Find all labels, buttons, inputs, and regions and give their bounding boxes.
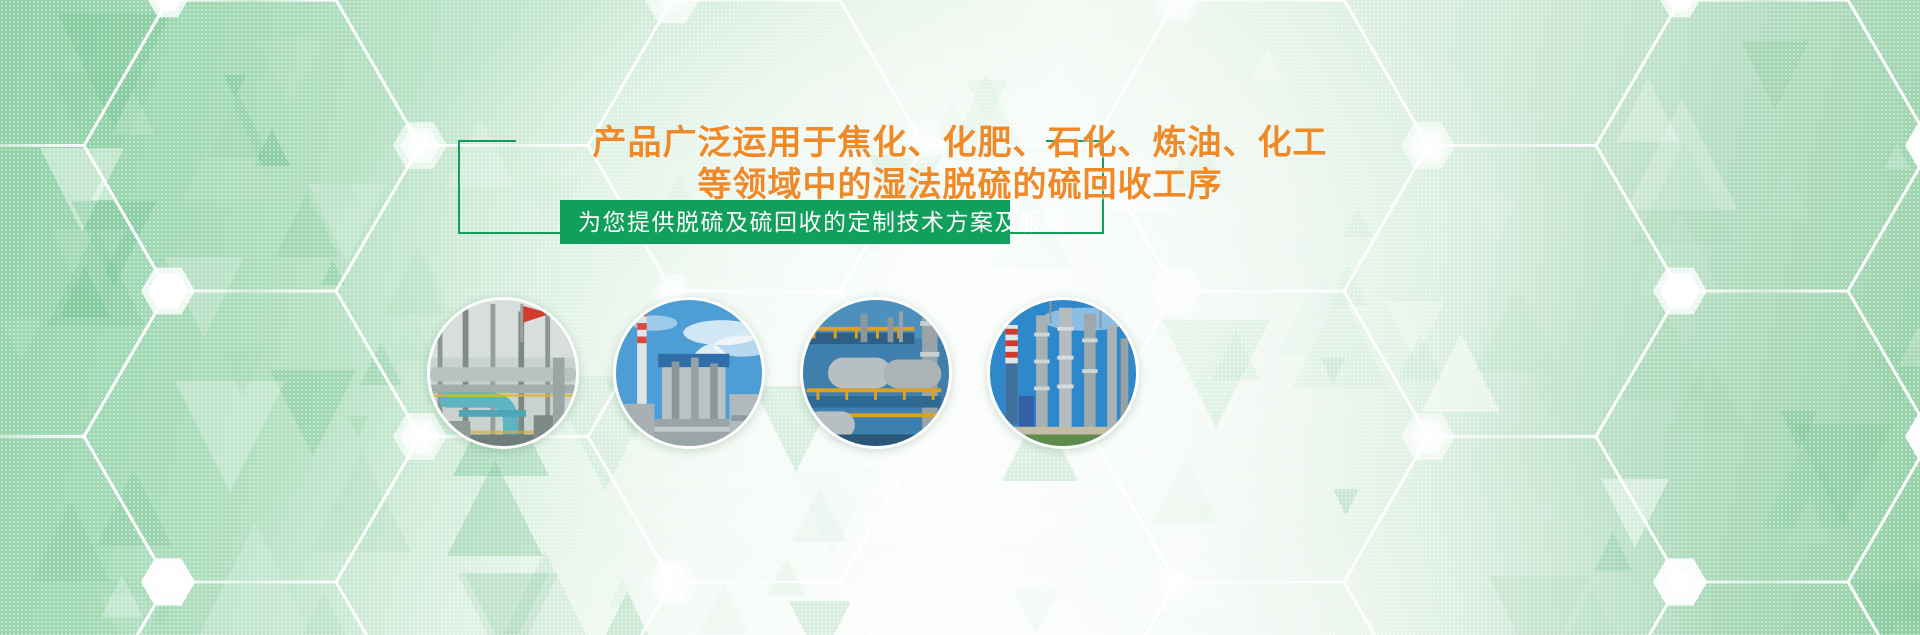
photo-circle-4[interactable] xyxy=(987,297,1139,449)
photo-tank-farm-illustration xyxy=(803,300,949,446)
headline-block: 产品广泛运用于焦化、化肥、石化、炼油、化工 等领域中的湿法脱硫的硫回收工序 xyxy=(0,122,1920,206)
bracket-bottom-left xyxy=(458,232,562,234)
photo-stack-plant-illustration xyxy=(616,300,762,446)
photo-circle-2[interactable] xyxy=(613,297,765,449)
headline-line-1: 产品广泛运用于焦化、化肥、石化、炼油、化工 xyxy=(0,122,1920,164)
photo-pipework-illustration xyxy=(430,300,576,446)
photo-refinery-illustration xyxy=(990,300,1136,446)
photo-circle-1[interactable] xyxy=(427,297,579,449)
subtitle-bar: 为您提供脱硫及硫回收的定制技术方案及服务 xyxy=(560,200,1010,244)
promo-banner: 产品广泛运用于焦化、化肥、石化、炼油、化工 等领域中的湿法脱硫的硫回收工序 为您… xyxy=(0,0,1920,635)
photo-circle-3[interactable] xyxy=(800,297,952,449)
